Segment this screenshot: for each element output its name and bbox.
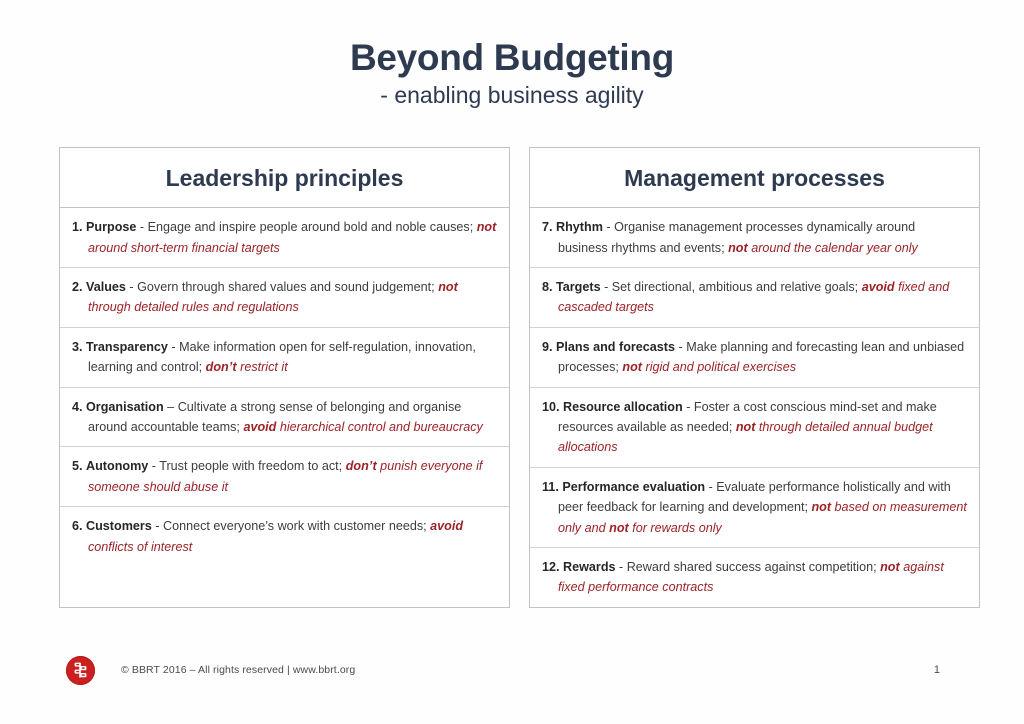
bbrt-logo-icon: [66, 656, 95, 685]
leadership-principles-list: 1. Purpose - Engage and inspire people a…: [60, 208, 509, 566]
principle-body: - Trust people with freedom to act;: [148, 459, 345, 473]
principle-number: 11.: [542, 480, 559, 494]
principle-negation-keyword: not: [736, 420, 756, 434]
principle-negation-keyword: avoid: [243, 420, 276, 434]
principle-negation-text: hierarchical control and bureaucracy: [276, 420, 483, 434]
principle-row: 10. Resource allocation - Foster a cost …: [530, 388, 979, 468]
principle-number: 10.: [542, 400, 560, 414]
principle-body: - Engage and inspire people around bold …: [136, 220, 476, 234]
principle-row: 12. Rewards - Reward shared success agai…: [530, 548, 979, 607]
principle-number: 1.: [72, 220, 83, 234]
principle-number: 4.: [72, 400, 83, 414]
principle-row: 11. Performance evaluation - Evaluate pe…: [530, 468, 979, 548]
principles-columns: Leadership principles 1. Purpose - Engag…: [59, 147, 980, 608]
principle-negation-text: through detailed rules and regulations: [88, 300, 299, 314]
principle-negation-keyword: don’t: [206, 360, 237, 374]
principle-term: Autonomy: [86, 459, 148, 473]
principle-number: 6.: [72, 519, 83, 533]
principle-term: Transparency: [86, 340, 168, 354]
principle-negation-text-2: for rewards only: [629, 521, 722, 535]
principle-number: 2.: [72, 280, 83, 294]
principle-negation-keyword: not: [438, 280, 458, 294]
page-subtitle: - enabling business agility: [0, 83, 1024, 108]
title-block: Beyond Budgeting - enabling business agi…: [0, 38, 1024, 109]
principle-term: Organisation: [86, 400, 164, 414]
principle-negation-text: restrict it: [237, 360, 288, 374]
principle-negation-keyword: not: [622, 360, 642, 374]
principle-negation-keyword: avoid: [862, 280, 895, 294]
principle-row: 7. Rhythm - Organise management processe…: [530, 208, 979, 268]
principle-number: 8.: [542, 280, 553, 294]
principle-row: 4. Organisation – Cultivate a strong sen…: [60, 388, 509, 448]
management-processes-header: Management processes: [530, 148, 979, 208]
principle-negation-text: conflicts of interest: [88, 540, 192, 554]
principle-number: 5.: [72, 459, 83, 473]
principle-term: Performance evaluation: [562, 480, 705, 494]
principle-negation-text: around the calendar year only: [748, 241, 918, 255]
copyright-text: © BBRT 2016 – All rights reserved | www.…: [121, 664, 355, 676]
slide-canvas: Beyond Budgeting - enabling business agi…: [0, 0, 1024, 724]
principle-number: 7.: [542, 220, 553, 234]
principle-body: - Set directional, ambitious and relativ…: [601, 280, 862, 294]
principle-row: 8. Targets - Set directional, ambitious …: [530, 268, 979, 328]
page-title: Beyond Budgeting: [0, 38, 1024, 77]
principle-term: Values: [86, 280, 126, 294]
principle-body: - Govern through shared values and sound…: [126, 280, 438, 294]
principle-row: 2. Values - Govern through shared values…: [60, 268, 509, 328]
principle-row: 1. Purpose - Engage and inspire people a…: [60, 208, 509, 268]
principle-negation-keyword: not: [880, 560, 900, 574]
principle-negation-keyword: not: [728, 241, 748, 255]
leadership-principles-header: Leadership principles: [60, 148, 509, 208]
principle-negation-keyword-2: not: [609, 521, 629, 535]
principle-number: 3.: [72, 340, 83, 354]
principle-negation-text: around short-term financial targets: [88, 241, 280, 255]
page-number: 1: [934, 664, 980, 676]
principle-row: 3. Transparency - Make information open …: [60, 328, 509, 388]
principle-term: Targets: [556, 280, 601, 294]
principle-number: 9.: [542, 340, 553, 354]
principle-negation-text: rigid and political exercises: [642, 360, 796, 374]
principle-negation-keyword: avoid: [430, 519, 463, 533]
management-processes-list: 7. Rhythm - Organise management processe…: [530, 208, 979, 606]
leadership-principles-panel: Leadership principles 1. Purpose - Engag…: [59, 147, 510, 608]
principle-row: 5. Autonomy - Trust people with freedom …: [60, 447, 509, 507]
principle-negation-keyword: don’t: [346, 459, 377, 473]
principle-body: - Reward shared success against competit…: [616, 560, 881, 574]
principle-term: Customers: [86, 519, 152, 533]
principle-term: Plans and forecasts: [556, 340, 675, 354]
principle-negation-keyword: not: [811, 500, 831, 514]
principle-number: 12.: [542, 560, 560, 574]
principle-row: 9. Plans and forecasts - Make planning a…: [530, 328, 979, 388]
principle-term: Rhythm: [556, 220, 603, 234]
slide-footer: © BBRT 2016 – All rights reserved | www.…: [59, 648, 980, 692]
principle-row: 6. Customers - Connect everyone’s work w…: [60, 507, 509, 566]
principle-term: Purpose: [86, 220, 136, 234]
principle-term: Resource allocation: [563, 400, 683, 414]
management-processes-panel: Management processes 7. Rhythm - Organis…: [529, 147, 980, 608]
principle-term: Rewards: [563, 560, 616, 574]
principle-negation-keyword: not: [477, 220, 497, 234]
principle-body: - Connect everyone’s work with customer …: [152, 519, 430, 533]
